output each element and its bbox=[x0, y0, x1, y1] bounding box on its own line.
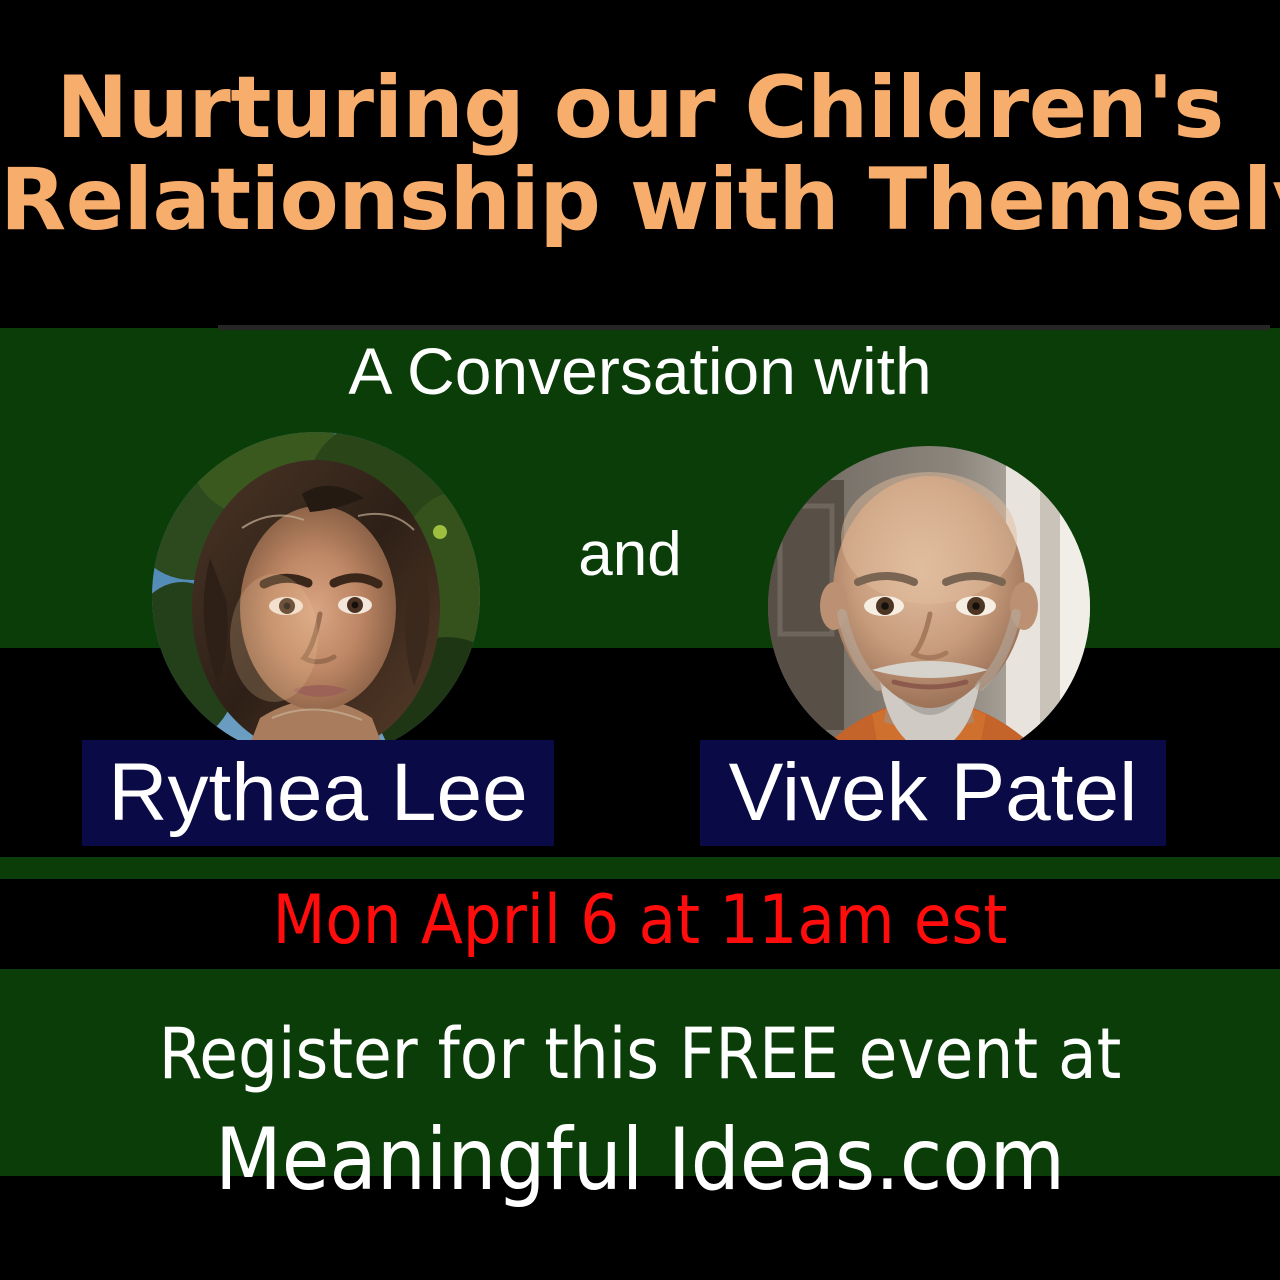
poster-title-line-1: Nurturing our Children's bbox=[0, 62, 1280, 154]
portrait-illustration-left bbox=[152, 432, 480, 760]
registration-website[interactable]: Meaningful Ideas.com bbox=[0, 1110, 1280, 1210]
portrait-illustration-right bbox=[768, 446, 1090, 768]
poster-title-line-2: Relationship with Themselves bbox=[0, 154, 1280, 246]
poster-title: Nurturing our Children's Relationship wi… bbox=[0, 62, 1280, 246]
speaker-photo-rythea-lee bbox=[152, 432, 480, 760]
event-promo-poster: Nurturing our Children's Relationship wi… bbox=[0, 0, 1280, 1280]
conversation-heading: A Conversation with bbox=[0, 332, 1280, 410]
speaker-name-vivek-patel: Vivek Patel bbox=[700, 740, 1166, 846]
registration-call-to-action: Register for this FREE event at bbox=[0, 1012, 1280, 1096]
green-band-thin-divider bbox=[0, 857, 1280, 879]
event-date-time: Mon April 6 at 11am est bbox=[0, 880, 1280, 962]
conjunction-and: and bbox=[540, 520, 720, 590]
speaker-photo-vivek-patel bbox=[768, 446, 1090, 768]
speaker-name-rythea-lee: Rythea Lee bbox=[82, 740, 554, 846]
gray-sliver-divider bbox=[218, 325, 1270, 330]
